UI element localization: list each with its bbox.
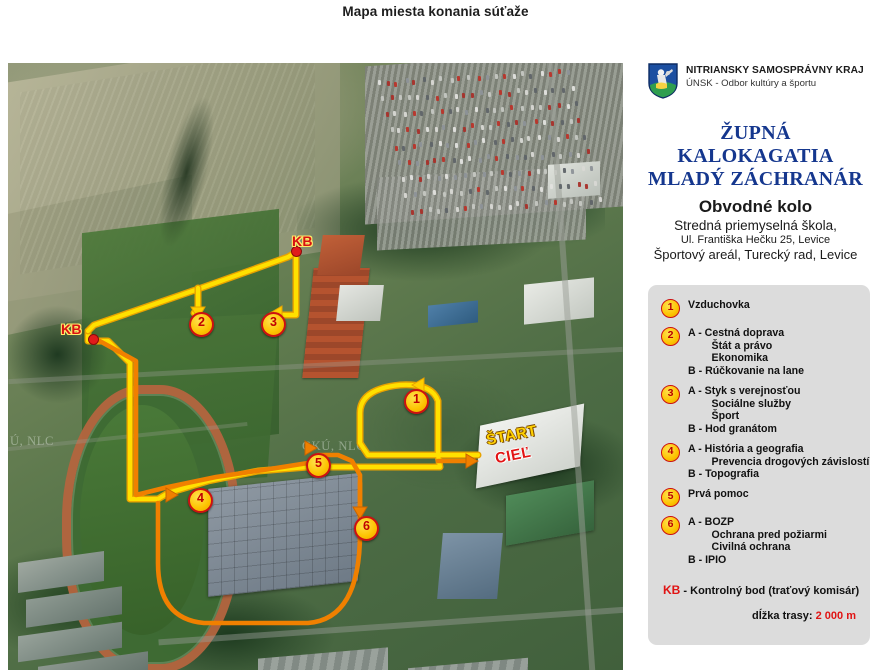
legend-marker-3: 3 [661,385,680,404]
legend-marker-4: 4 [661,443,680,462]
info-panel: NITRIANSKY SAMOSPRÁVNY KRAJ ÚNSK - Odbor… [640,60,871,670]
legend-marker-6: 6 [661,516,680,535]
legend-marker-5: 5 [661,488,680,507]
legend-marker-1: 1 [661,299,680,318]
map-station-marker-6[interactable]: 6 [354,516,379,541]
legend-text-4: A - História a geografia Prevencia drogo… [688,443,869,481]
legend-text-5: Prvá pomoc [688,488,749,501]
legend-distance-row: dĺžka trasy: 2 000 m [752,610,856,622]
event-title-block: ŽUPNÁ KALOKAGATIA MLADÝ ZÁCHRANÁR Obvodn… [640,122,871,217]
kb-point-west-dot [88,334,99,345]
map-station-marker-5[interactable]: 5 [306,453,331,478]
kb-label-west: KB [61,321,82,337]
map-station-marker-4[interactable]: 4 [188,488,213,513]
map-station-marker-3[interactable]: 3 [261,312,286,337]
route-return [96,253,474,623]
map-panel[interactable]: Ú, NLC GKÚ, NLC [8,63,623,670]
legend-panel: 1Vzduchovka2A - Cestná doprava Štát a pr… [648,285,870,645]
organisation-title: NITRIANSKY SAMOSPRÁVNY KRAJ [686,65,864,76]
organisation-text: NITRIANSKY SAMOSPRÁVNY KRAJ ÚNSK - Odbor… [686,65,864,89]
route-overlay [8,63,623,670]
legend-kb-row: KB - Kontrolný bod (traťový komisár) [663,583,859,597]
venue-school: Stredná priemyselná škola, [640,218,871,233]
page-title: Mapa miesta konania súťaže [0,4,871,19]
organisation-header: NITRIANSKY SAMOSPRÁVNY KRAJ ÚNSK - Odbor… [648,63,870,109]
venue-area: Športový areál, Turecký rad, Levice [640,247,871,262]
map-station-marker-2[interactable]: 2 [189,312,214,337]
venue-block: Stredná priemyselná škola, Ul. Františka… [640,218,871,262]
route-arrows [191,306,424,392]
route-outbound [88,249,478,499]
legend-marker-2: 2 [661,327,680,346]
legend-kb-key: KB [663,583,680,597]
event-round: Obvodné kolo [640,197,871,217]
legend-text-2: A - Cestná doprava Štát a právo Ekonomik… [688,327,804,377]
legend-kb-text: - Kontrolný bod (traťový komisár) [680,585,859,597]
event-title-line-1: ŽUPNÁ KALOKAGATIA [640,122,871,168]
venue-address: Ul. Františka Hečku 25, Levice [640,234,871,246]
legend-distance-label: dĺžka trasy: [752,610,816,622]
kb-label-north: KB [292,233,313,249]
map-station-marker-1[interactable]: 1 [404,389,429,414]
legend-text-3: A - Styk s verejnosťou Sociálne služby Š… [688,385,800,435]
legend-distance-value: 2 000 m [816,610,856,622]
legend-text-6: A - BOZP Ochrana pred požiarmi Civilná o… [688,516,827,566]
event-title-line-2: MLADÝ ZÁCHRANÁR [640,168,871,191]
nitra-region-coat-of-arms-icon [648,63,678,99]
legend-text-1: Vzduchovka [688,299,750,312]
organisation-subtitle: ÚNSK - Odbor kultúry a športu [686,78,864,89]
